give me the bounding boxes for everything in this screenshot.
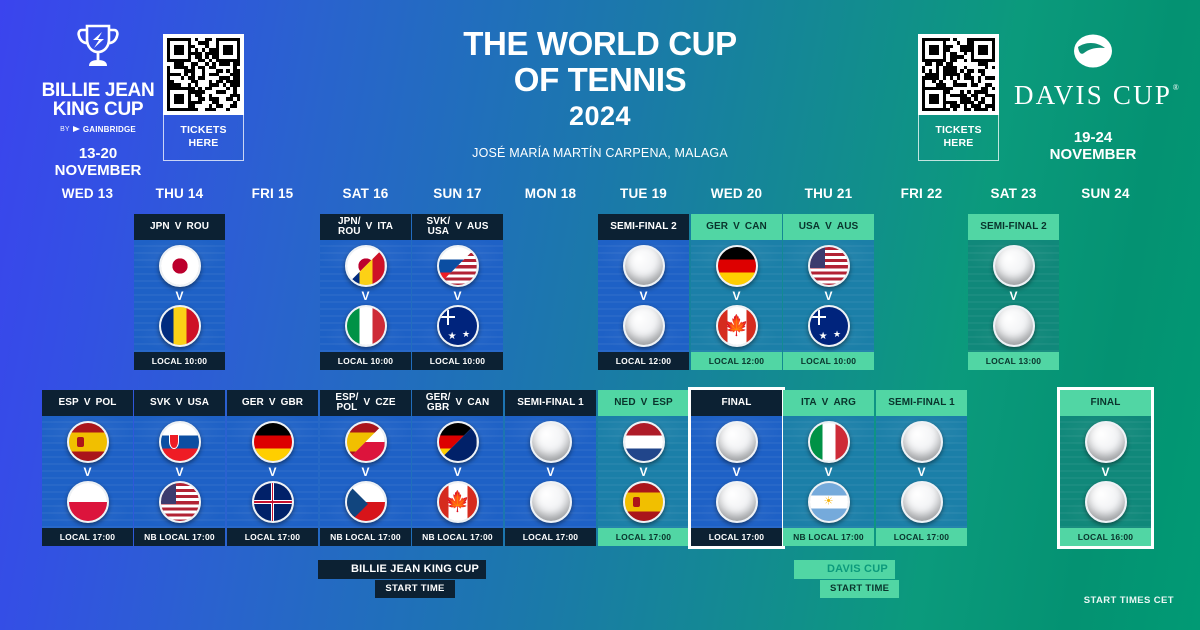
flag-aus: ★★ [808, 305, 850, 347]
dc-dates-line1: 19-24 [1008, 130, 1178, 147]
match-time: NB LOCAL 17:00 [134, 528, 225, 546]
match-card-esppol-cze[interactable]: ESP/POLVCZEVNB LOCAL 17:00 [320, 390, 411, 546]
versus-center-label: V [732, 290, 740, 302]
match-body: V★★ [412, 240, 503, 352]
match-teams: ESPVPOL [42, 390, 133, 416]
team-1-code: JPN/ROU [338, 217, 361, 237]
flag-ita [808, 421, 850, 463]
match-body: V [42, 416, 133, 528]
day-header-sat-16: SAT 16 [320, 186, 411, 201]
versus-label: V [641, 398, 648, 408]
match-title: SEMI-FINAL 2 [968, 214, 1059, 240]
team-1-code: ESP [59, 398, 79, 408]
match-card-svkusa-aus[interactable]: SVK/USAVAUSV★★LOCAL 10:00 [412, 214, 503, 370]
versus-center-label: V [268, 466, 276, 478]
match-body: V [227, 416, 318, 528]
team-2-code: POL [96, 398, 117, 408]
match-teams: NEDVESP [598, 390, 689, 416]
match-card-bjk-sf1[interactable]: SEMI-FINAL 1VLOCAL 17:00 [505, 390, 596, 546]
match-card-jpn-rou[interactable]: JPNVROUVLOCAL 10:00 [134, 214, 225, 370]
match-time: LOCAL 16:00 [1060, 528, 1151, 546]
legend-dc-sub: START TIME [820, 580, 899, 598]
match-body: V🍁 [691, 240, 782, 352]
match-body: V [968, 240, 1059, 352]
match-body: V [598, 416, 689, 528]
match-time: LOCAL 13:00 [968, 352, 1059, 370]
team-2-code: USA [188, 398, 209, 408]
match-time: NB LOCAL 17:00 [412, 528, 503, 546]
team-1-code: SVK/USA [427, 217, 451, 237]
day-header-fri-15: FRI 15 [227, 186, 318, 201]
team-1-code: NED [614, 398, 635, 408]
match-time: LOCAL 17:00 [42, 528, 133, 546]
versus-label: V [176, 398, 183, 408]
flag-usa [808, 245, 850, 287]
match-card-esp-pol[interactable]: ESPVPOLVLOCAL 17:00 [42, 390, 133, 546]
match-time: LOCAL 12:00 [598, 352, 689, 370]
team-2-code: CAN [467, 398, 489, 408]
flag-usa [159, 481, 201, 523]
match-card-ger-can[interactable]: GERVCANV🍁LOCAL 12:00 [691, 214, 782, 370]
legend-dc: DAVIS CUP START TIME [794, 560, 899, 598]
versus-center-label: V [175, 290, 183, 302]
dc-name-text: DAVIS CUP [1014, 80, 1172, 110]
versus-label: V [456, 398, 463, 408]
team-2-code: ITA [377, 222, 393, 232]
flag-ger [716, 245, 758, 287]
match-body: V [134, 240, 225, 352]
team-2-code: GBR [281, 398, 304, 408]
flag-ger [252, 421, 294, 463]
match-body: V [320, 416, 411, 528]
match-teams: SVK/USAVAUS [412, 214, 503, 240]
page-header: BILLIE JEAN KING CUP BY GAINBRIDGE 13-20… [0, 0, 1200, 180]
flag-jpn [159, 245, 201, 287]
versus-center-label: V [639, 290, 647, 302]
versus-center-label: V [917, 466, 925, 478]
match-time: LOCAL 17:00 [691, 528, 782, 546]
match-card-gergbr-can[interactable]: GER/GBRVCANV🍁NB LOCAL 17:00 [412, 390, 503, 546]
flag-ned [623, 421, 665, 463]
flag-esp [623, 481, 665, 523]
schedule-board: JPNVROUVLOCAL 10:00JPN/ROUVITAVLOCAL 10:… [0, 214, 1200, 560]
match-teams: JPNVROU [134, 214, 225, 240]
versus-center-label: V [1101, 466, 1109, 478]
match-title: SEMI-FINAL 1 [876, 390, 967, 416]
match-card-jpnrou-ita[interactable]: JPN/ROUVITAVLOCAL 10:00 [320, 214, 411, 370]
tbd-ball-icon [530, 421, 572, 463]
match-card-dc-final[interactable]: FINALVLOCAL 16:00 [1060, 390, 1151, 546]
team-1-code: ESP/POL [335, 393, 358, 413]
versus-center-label: V [361, 466, 369, 478]
day-header-sun-17: SUN 17 [412, 186, 503, 201]
flag-split-svk-usa [437, 245, 479, 287]
match-time: LOCAL 17:00 [505, 528, 596, 546]
tickets-line2: HERE [944, 137, 974, 149]
tbd-ball-icon [623, 245, 665, 287]
match-body: V [320, 240, 411, 352]
match-teams: USAVAUS [783, 214, 874, 240]
match-card-bjk-sf2[interactable]: SEMI-FINAL 2VLOCAL 12:00 [598, 214, 689, 370]
versus-label: V [84, 398, 91, 408]
versus-label: V [822, 398, 829, 408]
versus-center-label: V [361, 290, 369, 302]
match-time: LOCAL 12:00 [691, 352, 782, 370]
match-time: LOCAL 17:00 [598, 528, 689, 546]
flag-svk [159, 421, 201, 463]
bjk-dates-line2: NOVEMBER [28, 163, 168, 180]
match-body: V☀ [783, 416, 874, 528]
match-card-dc-sf1[interactable]: SEMI-FINAL 1VLOCAL 17:00 [876, 390, 967, 546]
day-header-thu-14: THU 14 [134, 186, 225, 201]
day-header-thu-21: THU 21 [783, 186, 874, 201]
legend-dc-swatch [794, 560, 820, 579]
versus-label: V [733, 222, 740, 232]
match-teams: ESP/POLVCZE [320, 390, 411, 416]
match-card-dc-sf2[interactable]: SEMI-FINAL 2VLOCAL 13:00 [968, 214, 1059, 370]
match-body: V [598, 240, 689, 352]
match-teams: GER/GBRVCAN [412, 390, 503, 416]
legend-bjk-sub: START TIME [375, 580, 454, 598]
tbd-ball-icon [993, 245, 1035, 287]
flag-esp [67, 421, 109, 463]
match-time: LOCAL 10:00 [320, 352, 411, 370]
versus-center-label: V [824, 466, 832, 478]
tickets-line1: TICKETS [935, 124, 981, 136]
match-title: FINAL [1060, 390, 1151, 416]
day-header-mon-18: MON 18 [505, 186, 596, 201]
match-card-ger-gbr[interactable]: GERVGBRVLOCAL 17:00 [227, 390, 318, 546]
flag-gbr [252, 481, 294, 523]
tbd-ball-icon [623, 305, 665, 347]
team-2-code: ARG [833, 398, 856, 408]
tbd-ball-icon [1085, 481, 1127, 523]
match-time: NB LOCAL 17:00 [783, 528, 874, 546]
davis-cup-logo-block: DAVIS CUP® 19-24 NOVEMBER [1008, 34, 1178, 164]
team-2-code: ROU [187, 222, 210, 232]
match-time: LOCAL 17:00 [876, 528, 967, 546]
flag-cze [345, 481, 387, 523]
versus-center-label: V [1009, 290, 1017, 302]
team-1-code: GER [242, 398, 264, 408]
versus-label: V [364, 398, 371, 408]
match-teams: GERVGBR [227, 390, 318, 416]
match-teams: GERVCAN [691, 214, 782, 240]
match-card-usa-aus[interactable]: USAVAUSV★★LOCAL 10:00 [783, 214, 874, 370]
tbd-ball-icon [993, 305, 1035, 347]
tbd-ball-icon [716, 481, 758, 523]
day-header-wed-20: WED 20 [691, 186, 782, 201]
versus-label: V [455, 222, 462, 232]
legend-bjk: BILLIE JEAN KING CUP START TIME [318, 560, 486, 598]
team-1-code: USA [799, 222, 820, 232]
match-title: FINAL [691, 390, 782, 416]
versus-label: V [269, 398, 276, 408]
flag-can: 🍁 [716, 305, 758, 347]
dc-qr-code[interactable] [918, 34, 999, 115]
team-1-code: ITA [801, 398, 817, 408]
team-1-code: GER [706, 222, 728, 232]
match-teams: ITAVARG [783, 390, 874, 416]
match-time: LOCAL 10:00 [412, 352, 503, 370]
legend-bjk-swatch [318, 560, 344, 579]
tbd-ball-icon [901, 421, 943, 463]
match-time: LOCAL 10:00 [134, 352, 225, 370]
dc-tickets-label[interactable]: TICKETS HERE [918, 115, 999, 161]
team-1-code: GER/GBR [426, 393, 451, 413]
dc-trademark: ® [1173, 83, 1181, 92]
versus-center-label: V [824, 290, 832, 302]
legend-dc-label: DAVIS CUP [820, 560, 895, 579]
legend: BILLIE JEAN KING CUP START TIME DAVIS CU… [0, 560, 1200, 606]
flag-rou [159, 305, 201, 347]
flag-arg: ☀ [808, 481, 850, 523]
legend-bjk-label: BILLIE JEAN KING CUP [344, 560, 486, 579]
versus-center-label: V [453, 290, 461, 302]
flag-aus: ★★ [437, 305, 479, 347]
match-body: V🍁 [412, 416, 503, 528]
davis-cup-wordmark: DAVIS CUP® [1014, 80, 1172, 111]
team-2-code: AUS [837, 222, 858, 232]
match-teams: JPN/ROUVITA [320, 214, 411, 240]
dc-tickets-block[interactable]: TICKETS HERE [918, 34, 999, 161]
match-card-bjk-final[interactable]: FINALVLOCAL 17:00 [691, 390, 782, 546]
match-time: LOCAL 10:00 [783, 352, 874, 370]
day-header-sat-23: SAT 23 [968, 186, 1059, 201]
flag-split-esp-pol [345, 421, 387, 463]
versus-center-label: V [732, 466, 740, 478]
match-teams: SVKVUSA [134, 390, 225, 416]
flag-can: 🍁 [437, 481, 479, 523]
match-body: V [691, 416, 782, 528]
day-header-sun-24: SUN 24 [1060, 186, 1151, 201]
match-time: LOCAL 17:00 [227, 528, 318, 546]
flag-split-ger-gbr [437, 421, 479, 463]
flag-split-jpn-rou [345, 245, 387, 287]
match-card-ita-arg[interactable]: ITAVARGV☀NB LOCAL 17:00 [783, 390, 874, 546]
flag-pol [67, 481, 109, 523]
day-header-fri-22: FRI 22 [876, 186, 967, 201]
match-card-svk-usa[interactable]: SVKVUSAVNB LOCAL 17:00 [134, 390, 225, 546]
dc-dates-line2: NOVEMBER [1008, 147, 1178, 164]
match-body: V★★ [783, 240, 874, 352]
tbd-ball-icon [716, 421, 758, 463]
match-title: SEMI-FINAL 1 [505, 390, 596, 416]
flag-ita [345, 305, 387, 347]
match-card-ned-esp[interactable]: NEDVESPVLOCAL 17:00 [598, 390, 689, 546]
tbd-ball-icon [1085, 421, 1127, 463]
versus-label: V [366, 222, 373, 232]
match-body: V [1060, 416, 1151, 528]
team-2-code: CZE [375, 398, 395, 408]
match-body: V [505, 416, 596, 528]
versus-center-label: V [453, 466, 461, 478]
match-time: NB LOCAL 17:00 [320, 528, 411, 546]
team-1-code: JPN [150, 222, 170, 232]
team-2-code: CAN [745, 222, 767, 232]
match-title: SEMI-FINAL 2 [598, 214, 689, 240]
davis-cup-globe-icon [1073, 34, 1113, 68]
team-1-code: SVK [150, 398, 171, 408]
versus-center-label: V [546, 466, 554, 478]
team-2-code: ESP [652, 398, 672, 408]
versus-label: V [825, 222, 832, 232]
versus-center-label: V [639, 466, 647, 478]
versus-label: V [175, 222, 182, 232]
team-2-code: AUS [467, 222, 488, 232]
versus-center-label: V [83, 466, 91, 478]
match-body: V [876, 416, 967, 528]
tbd-ball-icon [530, 481, 572, 523]
match-body: V [134, 416, 225, 528]
versus-center-label: V [175, 466, 183, 478]
day-header-row: WED 13THU 14FRI 15SAT 16SUN 17MON 18TUE … [0, 186, 1200, 210]
day-header-tue-19: TUE 19 [598, 186, 689, 201]
tbd-ball-icon [901, 481, 943, 523]
start-times-note: START TIMES CET [1084, 595, 1174, 606]
day-header-wed-13: WED 13 [42, 186, 133, 201]
